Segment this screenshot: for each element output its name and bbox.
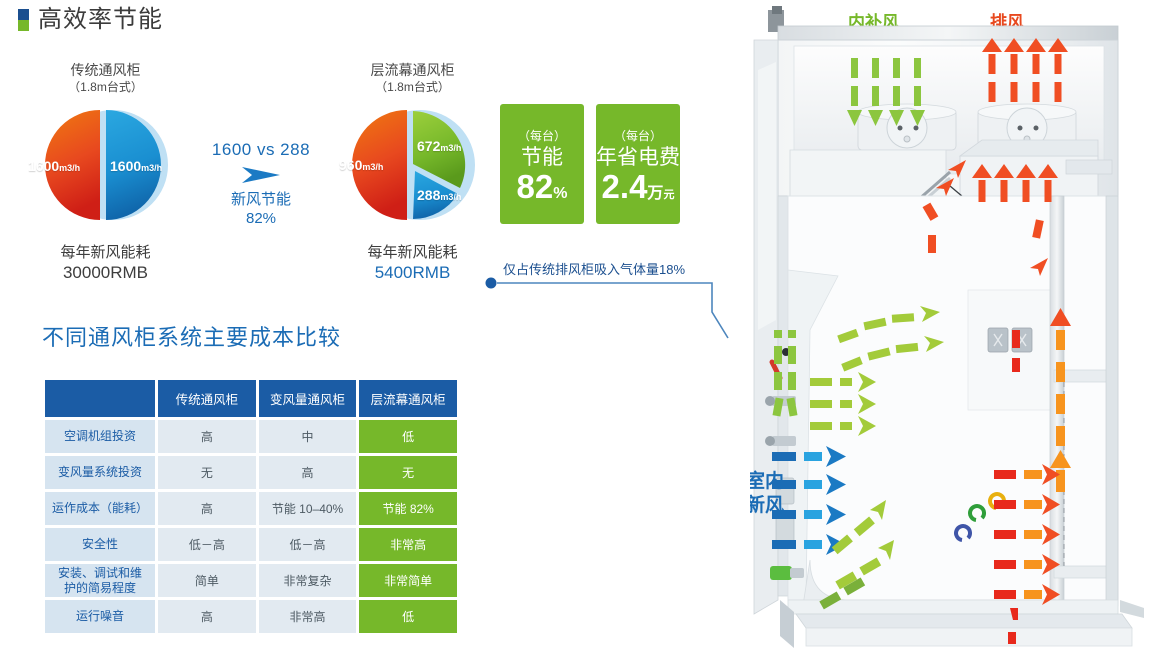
badge-value: 2.4万元 [602,170,675,203]
table-row-label: 空调机组投资 [45,420,155,453]
table-header-cell-3: 层流幕通风柜 [359,380,457,417]
table-cell-highlight: 非常简单 [359,564,457,597]
table-cell: 节能 10–40% [259,492,357,525]
table-cell-highlight: 无 [359,456,457,489]
table-row: 安装、调试和维 护的简易程度 简单 非常复杂 非常简单 [45,564,457,597]
exhaust-arrows-riser [1050,308,1071,492]
pie-laminar: 960m3/h 672m3/h 288m3/h [325,105,500,225]
chart-caption-laminar: 层流幕通风柜 （1.8m台式） [325,62,500,95]
table-row: 安全性 低－高 低－高 非常高 [45,528,457,561]
infographic-page: 高效率节能 传统通风柜 （1.8m台式） [0,0,1149,660]
table-cell: 中 [259,420,357,453]
pie-slice-label-exhaust: 1600m3/h [28,158,80,176]
callout-leader-line [484,276,744,346]
badge-annual-cost-saving: （每台） 年省电费 2.4万元 [596,104,680,224]
comparison-ratio: 1600 vs 288 [196,140,326,160]
table-header-cell-1: 传统通风柜 [158,380,256,417]
airflow-arrows [750,0,1149,660]
table-cell: 高 [158,492,256,525]
comparison-note: 新风节能 82% [196,191,326,229]
table-row-label: 安装、调试和维 护的简易程度 [45,564,155,597]
fume-hood-illustration: 内补风 排风 [750,0,1149,660]
table-cell: 简单 [158,564,256,597]
badge-value: 82% [517,170,568,203]
table-row: 空调机组投资 高 中 低 [45,420,457,453]
pie-slice-label-exhaust: 960m3/h [339,157,383,175]
chart-footer-traditional: 每年新风能耗 30000RMB [18,243,193,285]
table-row-label: 变风量系统投资 [45,456,155,489]
chart-traditional-hood: 传统通风柜 （1.8m台式） [18,62,193,284]
table-cell-highlight: 非常高 [359,528,457,561]
table-cell-highlight: 低 [359,420,457,453]
table-cell-highlight: 低 [359,600,457,633]
table-row-label: 安全性 [45,528,155,561]
chart-footer-laminar: 每年新风能耗 5400RMB [325,243,500,285]
page-title: 高效率节能 [18,8,163,32]
label-indoor-fresh-air: 室内 新风 [750,470,808,518]
table-header-cell-0 [45,380,155,417]
cost-comparison-table: 传统通风柜 变风量通风柜 层流幕通风柜 空调机组投资 高 中 低 变风量系统投资… [42,377,460,636]
table-row: 运行噪音 高 非常高 低 [45,600,457,633]
table-cell: 非常复杂 [259,564,357,597]
page-title-text: 高效率节能 [38,8,163,32]
recirculation-arrows-mid [810,372,876,436]
exhaust-arrows-lower [994,464,1060,605]
table-cell: 高 [158,420,256,453]
table-cell: 无 [158,456,256,489]
table-header-cell-2: 变风量通风柜 [259,380,357,417]
table-cell: 高 [259,456,357,489]
table-cell: 低－高 [158,528,256,561]
table-section-heading: 不同通风柜系统主要成本比较 [42,320,341,352]
pie-traditional: 1600m3/h 1600m3/h [18,105,193,225]
chart-caption-traditional: 传统通风柜 （1.8m台式） [18,62,193,95]
arrow-right-icon [238,163,284,187]
recirculation-arrows-left-column [772,330,797,417]
table-cell: 非常高 [259,600,357,633]
exhaust-arrows-chamber [972,164,1058,202]
pie-slice-label-fresh-air: 288m3/h [417,187,461,205]
pie-slice-label-recirculated: 672m3/h [417,138,461,156]
title-marker-icon [18,9,29,31]
table-row-label: 运行噪音 [45,600,155,633]
recirculation-arrows-upper [837,306,944,371]
table-header-row: 传统通风柜 变风量通风柜 层流幕通风柜 [45,380,457,417]
chart-laminar-hood: 层流幕通风柜 （1.8m台式） 960m3/h 672m3/h [325,62,500,284]
pie-slice-label-supply: 1600m3/h [110,158,162,176]
left-content-panel: 高效率节能 传统通风柜 （1.8m台式） [0,0,755,660]
badge-energy-saving: （每台） 节能 82% [500,104,584,224]
supply-arrows-top [847,58,925,126]
comparison-arrow-block: 1600 vs 288 新风节能 82% [196,140,326,229]
table-row-label: 运作成本（能耗） [45,492,155,525]
table-cell-highlight: 节能 82% [359,492,457,525]
table-cell: 低－高 [259,528,357,561]
table-cell: 高 [158,600,256,633]
savings-badges: （每台） 节能 82% （每台） 年省电费 2.4万元 [500,104,680,224]
exhaust-arrows-top [982,38,1068,102]
table-row: 运作成本（能耗） 高 节能 10–40% 节能 82% [45,492,457,525]
table-row: 变风量系统投资 无 高 无 [45,456,457,489]
